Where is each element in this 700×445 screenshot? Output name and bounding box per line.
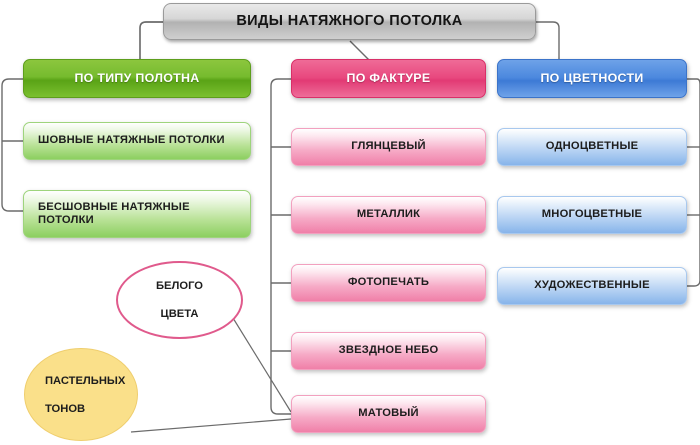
node-metallik[interactable]: МЕТАЛЛИК bbox=[291, 196, 486, 234]
diagram-title: ВИДЫ НАТЯЖНОГО ПОТОЛКА bbox=[163, 3, 536, 40]
callout-line-2: ТОНОВ bbox=[45, 402, 137, 416]
node-glyantsevyy[interactable]: ГЛЯНЦЕВЫЙ bbox=[291, 128, 486, 166]
node-label: ФОТОПЕЧАТЬ bbox=[292, 276, 485, 289]
callout-belogo-tsveta[interactable]: БЕЛОГОЦВЕТА bbox=[116, 261, 243, 339]
node-label: МЕТАЛЛИК bbox=[292, 208, 485, 221]
callout-pastelnykh-tonov[interactable]: ПАСТЕЛЬНЫХТОНОВ bbox=[24, 348, 138, 441]
node-shovnye-natyazhnye-potolki[interactable]: ШОВНЫЕ НАТЯЖНЫЕ ПОТОЛКИ bbox=[23, 122, 251, 160]
diagram-title-label: ВИДЫ НАТЯЖНОГО ПОТОЛКА bbox=[164, 13, 535, 30]
node-label: ШОВНЫЕ НАТЯЖНЫЕ ПОТОЛКИ bbox=[38, 134, 236, 147]
node-matovyy[interactable]: МАТОВЫЙ bbox=[291, 395, 486, 433]
branch-header-po-fakture[interactable]: ПО ФАКТУРЕ bbox=[291, 59, 486, 98]
node-fotopechat[interactable]: ФОТОПЕЧАТЬ bbox=[291, 264, 486, 302]
node-label: ОДНОЦВЕТНЫЕ bbox=[498, 140, 686, 153]
node-odnotsvetnye[interactable]: ОДНОЦВЕТНЫЕ bbox=[497, 128, 687, 166]
node-label: ГЛЯНЦЕВЫЙ bbox=[292, 140, 485, 153]
node-label: ЗВЕЗДНОЕ НЕБО bbox=[292, 344, 485, 357]
branch-header-po-tipu-polotna[interactable]: ПО ТИПУ ПОЛОТНА bbox=[23, 59, 251, 98]
branch-header-label: ПО ЦВЕТНОСТИ bbox=[498, 71, 686, 86]
node-besshovnye-natyazhnye-potolki[interactable]: БЕСШОВНЫЕ НАТЯЖНЫЕ ПОТОЛКИ bbox=[23, 190, 251, 238]
diagram-canvas: ВИДЫ НАТЯЖНОГО ПОТОЛКА ПО ТИПУ ПОЛОТНА Ш… bbox=[0, 0, 700, 445]
branch-header-po-tsvetnosti[interactable]: ПО ЦВЕТНОСТИ bbox=[497, 59, 687, 98]
node-zvezdnoe-nebo[interactable]: ЗВЕЗДНОЕ НЕБО bbox=[291, 332, 486, 370]
callout-label: ПАСТЕЛЬНЫХТОНОВ bbox=[45, 374, 137, 416]
callout-line-1: БЕЛОГО bbox=[118, 279, 241, 293]
callout-line-1: ПАСТЕЛЬНЫХ bbox=[45, 374, 137, 388]
node-khudozhestvennye[interactable]: ХУДОЖЕСТВЕННЫЕ bbox=[497, 267, 687, 305]
node-label: МАТОВЫЙ bbox=[292, 407, 485, 420]
branch-header-label: ПО ФАКТУРЕ bbox=[292, 71, 485, 86]
callout-label: БЕЛОГОЦВЕТА bbox=[118, 279, 241, 321]
node-label: ХУДОЖЕСТВЕННЫЕ bbox=[498, 279, 686, 292]
callout-line-2: ЦВЕТА bbox=[118, 307, 241, 321]
branch-header-label: ПО ТИПУ ПОЛОТНА bbox=[24, 71, 250, 86]
node-label: БЕСШОВНЫЕ НАТЯЖНЫЕ ПОТОЛКИ bbox=[38, 201, 236, 227]
node-label: МНОГОЦВЕТНЫЕ bbox=[498, 208, 686, 221]
node-mnogotsvetnye[interactable]: МНОГОЦВЕТНЫЕ bbox=[497, 196, 687, 234]
